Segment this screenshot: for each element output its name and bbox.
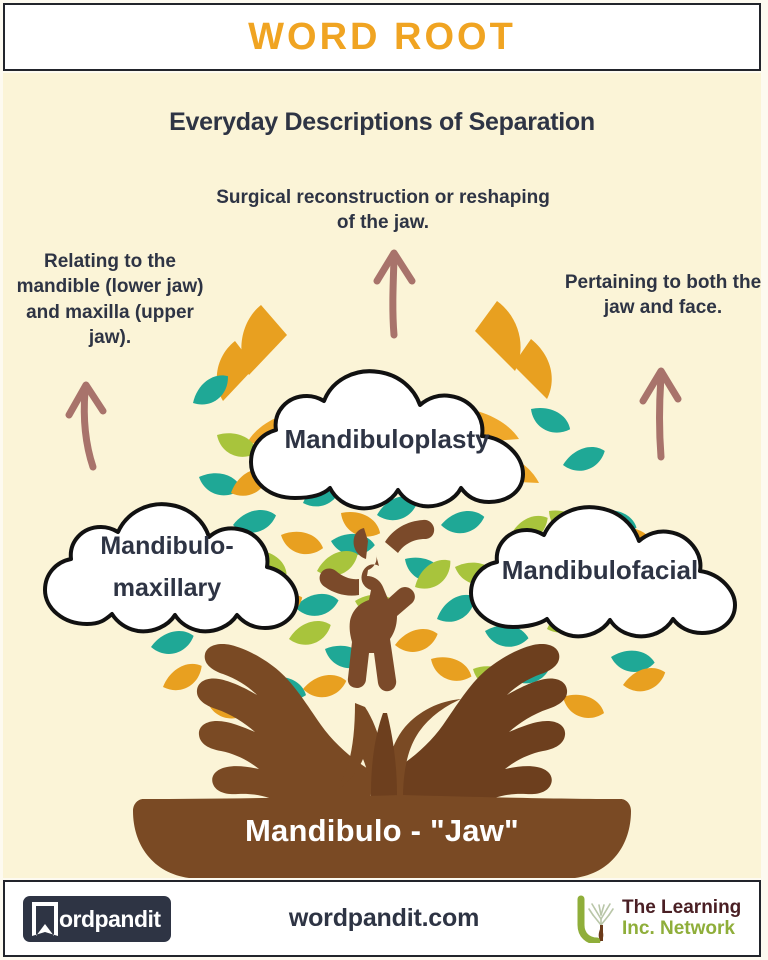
learning-inc-network-text: The Learning Inc. Network	[622, 898, 741, 939]
cloud-mandibuloplasty[interactable]: Mandibuloplasty	[231, 366, 543, 514]
wordpandit-logo-text: ordpandit	[59, 906, 161, 933]
footer-band: wordpandit.com ordpandit	[3, 880, 761, 957]
header-band: WORD ROOT	[3, 3, 761, 71]
cloud-mandibulofacial[interactable]: Mandibulofacial	[455, 501, 745, 641]
partner-line-2: Inc. Network	[622, 919, 741, 940]
wordpandit-w-icon	[32, 902, 58, 936]
page-title: WORD ROOT	[248, 16, 516, 59]
partner-line-1: The Learning	[622, 898, 741, 919]
arrow-up-icon-left	[65, 377, 111, 469]
infographic-poster: WORD ROOT Everyday Descriptions of Separ…	[0, 0, 768, 960]
poster-body: Everyday Descriptions of Separation	[3, 73, 761, 878]
arrow-up-icon-right	[637, 363, 683, 459]
root-word-label: Mandibulo - "Jaw"	[3, 813, 761, 849]
cloud-mandibulomaxillary[interactable]: Mandibulo- maxillary	[31, 498, 303, 638]
learning-inc-network-logo[interactable]: The Learning Inc. Network	[575, 893, 745, 945]
annotation-mandibuloplasty: Surgical reconstruction or reshaping of …	[208, 185, 558, 236]
annotation-mandibulomaxillary: Relating to the mandible (lower jaw) and…	[5, 249, 215, 350]
wordpandit-logo[interactable]: ordpandit	[23, 896, 171, 942]
arrow-up-icon-top	[371, 245, 417, 337]
learning-tree-icon	[575, 895, 619, 943]
annotation-mandibulofacial: Pertaining to both the jaw and face.	[563, 270, 761, 321]
